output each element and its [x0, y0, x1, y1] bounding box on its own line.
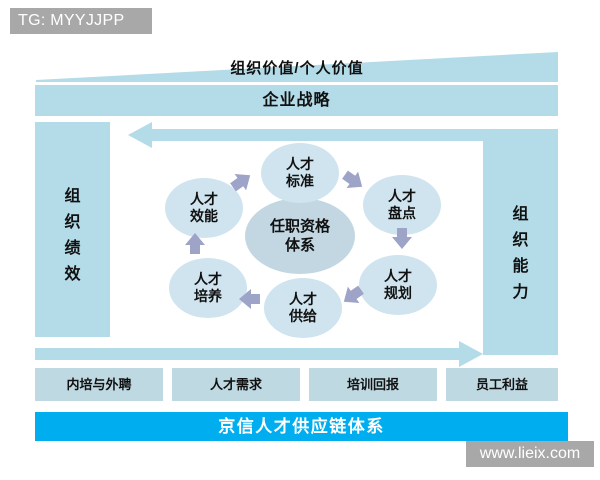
pillar-right-char-2: 织: [483, 228, 558, 254]
cycle-node-talent-planning-line1: 人才: [384, 268, 412, 285]
cycle-core-line2: 体系: [285, 236, 315, 255]
bottom-box-label-4: 员工利益: [476, 377, 528, 392]
pillar-left-char-2: 织: [35, 210, 110, 236]
talent-cycle-group: 任职资格 体系 人才 标准 人才 盘点 人才 规划 人才 供给 人才 培养: [150, 130, 450, 340]
bottom-box-label-2: 人才需求: [210, 377, 262, 392]
cycle-node-talent-planning: 人才 规划: [359, 255, 437, 315]
pillar-organizational-capability: 组 织 能 力: [483, 140, 558, 355]
bottom-box-row: 内培与外聘 人才需求 培训回报 员工利益: [35, 368, 558, 401]
cycle-node-talent-standard: 人才 标准: [261, 143, 339, 203]
pillar-right-char-4: 力: [483, 280, 558, 306]
cycle-node-talent-cultivation-line1: 人才: [194, 271, 222, 288]
cycle-node-talent-planning-line2: 规划: [384, 285, 412, 302]
bottom-box-employee-benefit[interactable]: 员工利益: [446, 368, 558, 401]
cycle-core-line1: 任职资格: [270, 217, 330, 236]
cycle-arrow-cultivation-to-efficiency-icon: [184, 231, 206, 255]
cycle-node-talent-standard-line1: 人才: [286, 156, 314, 173]
footer-title: 京信人才供应链体系: [35, 412, 568, 441]
bottom-box-label-1: 内培与外聘: [66, 377, 131, 392]
bottom-box-internal-external-hiring[interactable]: 内培与外聘: [35, 368, 163, 401]
cycle-node-talent-cultivation-line2: 培养: [194, 288, 222, 305]
pillar-right-char-1: 组: [483, 202, 558, 228]
cycle-arrow-inventory-to-planning-icon: [391, 227, 413, 251]
diagram-canvas: TG: MYYJJPP 组织价值/个人价值 企业战略 组 织 绩 效 组 织 能…: [0, 0, 600, 480]
roof-label: 组织价值/个人价值: [36, 57, 558, 81]
pillar-right-label: 组 织 能 力: [483, 202, 558, 306]
cycle-node-talent-supply: 人才 供给: [264, 278, 342, 338]
cycle-node-talent-inventory-line2: 盘点: [388, 205, 416, 222]
pillar-left-label: 组 织 绩 效: [35, 184, 110, 288]
cycle-core-node: 任职资格 体系: [245, 198, 355, 274]
cycle-node-talent-efficiency-line1: 人才: [190, 191, 218, 208]
pillar-right-char-3: 能: [483, 254, 558, 280]
cycle-arrow-supply-to-cultivation-icon: [237, 288, 261, 310]
pillar-organizational-performance: 组 织 绩 效: [35, 122, 110, 337]
bottom-box-talent-demand[interactable]: 人才需求: [172, 368, 300, 401]
bottom-box-label-3: 培训回报: [347, 377, 399, 392]
pillar-left-char-4: 效: [35, 262, 110, 288]
supply-arrow-right: [35, 341, 483, 367]
cycle-node-talent-cultivation: 人才 培养: [169, 258, 247, 318]
cycle-node-talent-supply-line2: 供给: [289, 308, 317, 325]
pillar-left-char-1: 组: [35, 184, 110, 210]
strategy-label: 企业战略: [35, 85, 558, 116]
tg-watermark-badge: TG: MYYJJPP: [10, 8, 152, 34]
cycle-node-talent-inventory-line1: 人才: [388, 188, 416, 205]
cycle-node-talent-inventory: 人才 盘点: [363, 175, 441, 235]
cycle-node-talent-standard-line2: 标准: [286, 173, 314, 190]
pillar-left-char-3: 绩: [35, 236, 110, 262]
bottom-box-training-return[interactable]: 培训回报: [309, 368, 437, 401]
cycle-node-talent-efficiency-line2: 效能: [190, 208, 218, 225]
cycle-node-talent-supply-line1: 人才: [289, 291, 317, 308]
site-watermark-badge: www.lieix.com: [466, 441, 594, 467]
